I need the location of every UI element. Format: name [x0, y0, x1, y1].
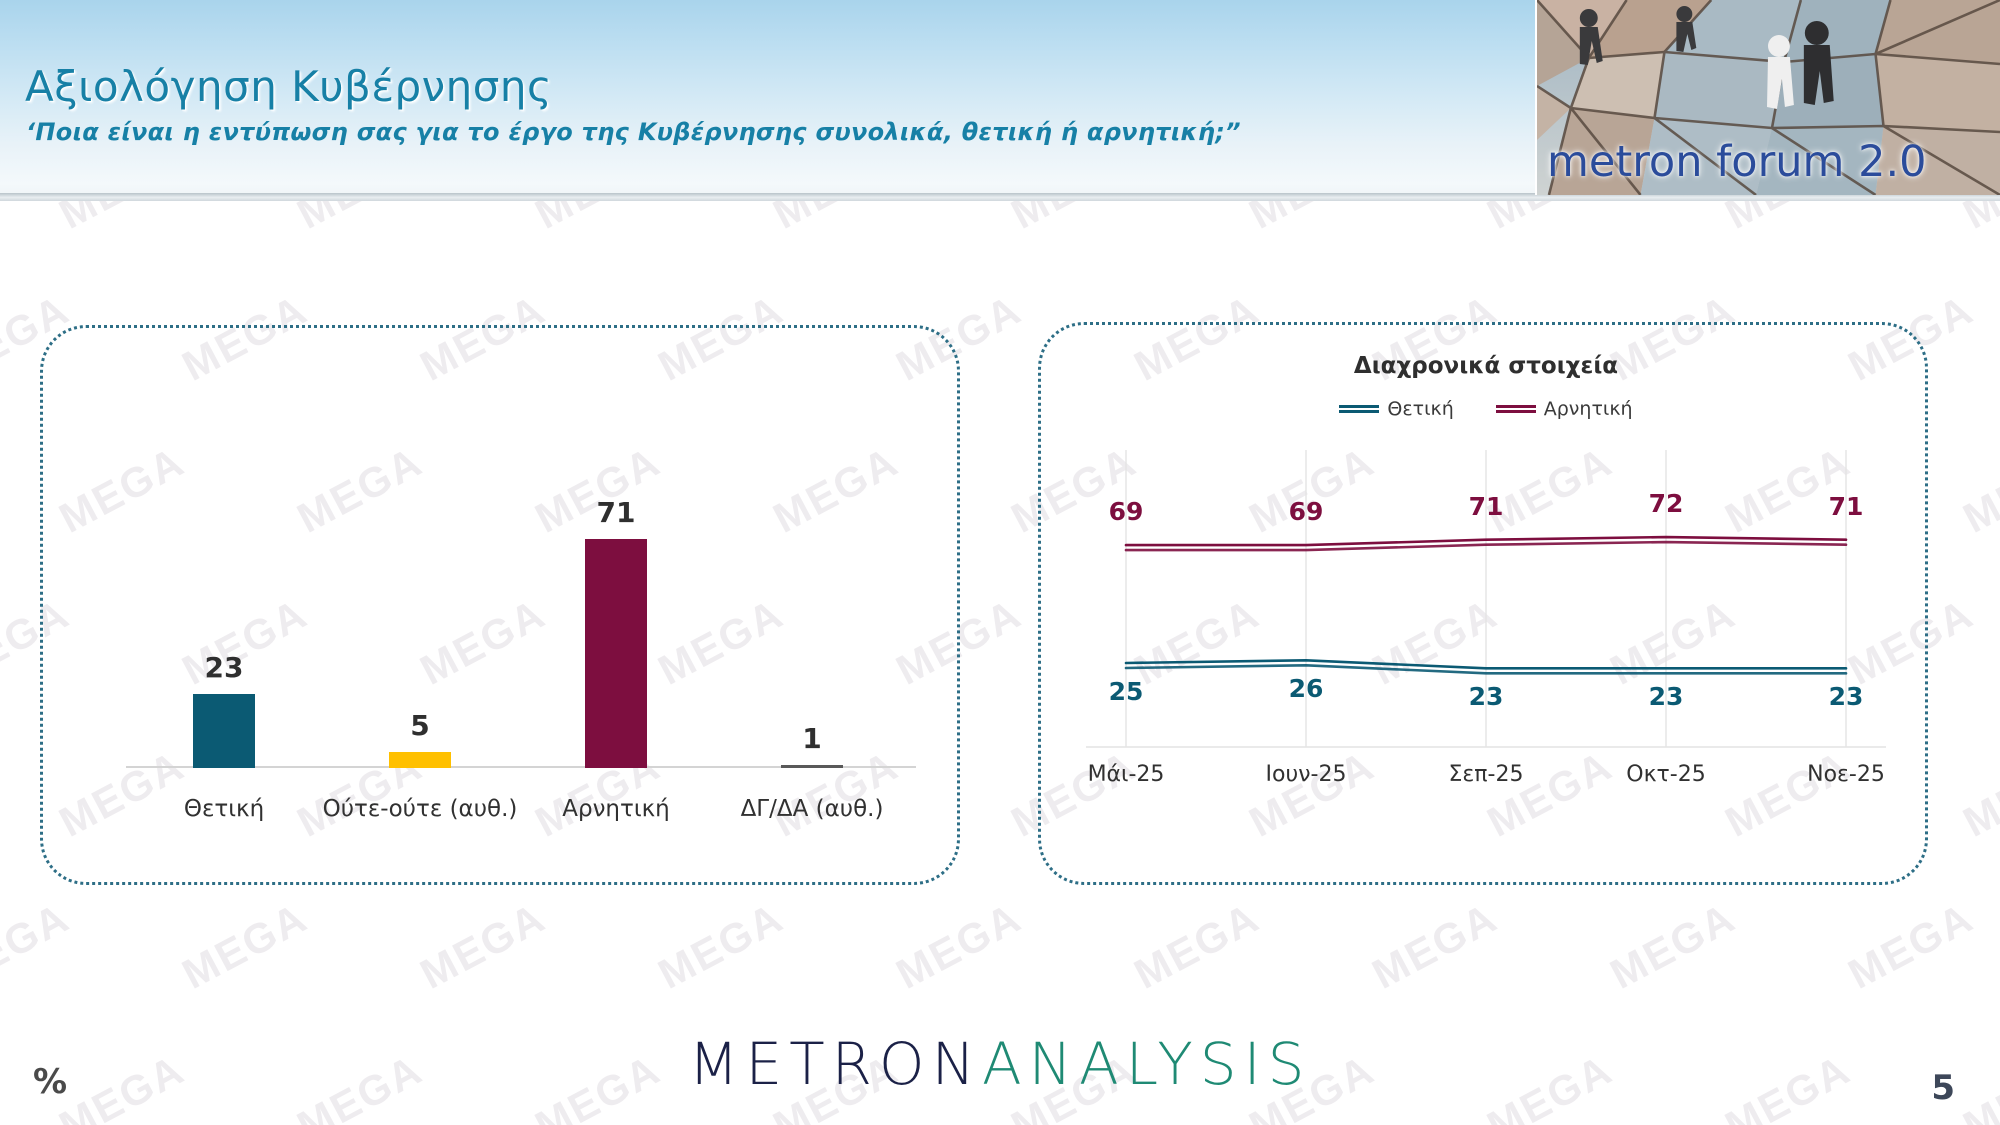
watermark-text: MEGA: [1127, 893, 1268, 998]
line-chart-legend: Θετική Αρνητική: [1041, 398, 1931, 420]
line-chart-panel: Διαχρονικά στοιχεία Θετική Αρνητική 2526…: [1038, 322, 1928, 885]
page-subtitle: ‘Ποια είναι η εντύπωση σας για το έργο τ…: [26, 118, 1241, 146]
line-point-label: 23: [1829, 682, 1864, 711]
legend-item-positive: Θετική: [1339, 398, 1453, 420]
bar-column: 23Θετική: [126, 438, 322, 768]
bar-rect: [585, 539, 647, 768]
bar-rect: [193, 694, 255, 768]
line-x-axis-label: Ιουν-25: [1266, 762, 1347, 787]
watermark-text: MEGA: [1603, 893, 1744, 998]
watermark-text: MEGA: [1365, 893, 1506, 998]
watermark-text: MEGA: [175, 893, 316, 998]
line-point-label: 69: [1109, 497, 1144, 526]
legend-line-swatch-positive: [1339, 405, 1379, 414]
page-number: 5: [1931, 1068, 1955, 1108]
bar-value-label: 5: [410, 709, 429, 742]
line-chart-plot-area: 25262323236969717271Μάι-25Ιουν-25Σεπ-25Ο…: [1086, 450, 1886, 765]
legend-line-swatch-negative: [1496, 405, 1536, 414]
bar-chart-plot-area: 23Θετική5Ούτε-ούτε (αυθ.)71Αρνητική1ΔΓ/Δ…: [88, 438, 918, 838]
slide-root: Αξιολόγηση Κυβέρνησης ‘Ποια είναι η εντύ…: [0, 0, 2000, 1125]
legend-label-negative: Αρνητική: [1544, 398, 1633, 420]
line-point-label: 72: [1649, 489, 1684, 518]
bar-chart-panel: 23Θετική5Ούτε-ούτε (αυθ.)71Αρνητική1ΔΓ/Δ…: [40, 325, 960, 885]
line-point-label: 25: [1109, 677, 1144, 706]
bar-rect: [389, 752, 451, 768]
line-x-axis-label: Μάι-25: [1088, 762, 1165, 787]
bar-category-label: Αρνητική: [562, 796, 670, 822]
line-point-label: 69: [1289, 497, 1324, 526]
page-title: Αξιολόγηση Κυβέρνησης: [25, 62, 552, 111]
legend-label-positive: Θετική: [1387, 398, 1453, 420]
bar-column: 71Αρνητική: [518, 438, 714, 768]
line-point-label: 71: [1829, 492, 1864, 521]
watermark-text: MEGA: [1956, 741, 2000, 846]
line-x-axis-label: Νοε-25: [1807, 762, 1885, 787]
line-x-axis-label: Οκτ-25: [1626, 762, 1705, 787]
bar-value-label: 1: [802, 722, 821, 755]
line-point-label: 23: [1469, 682, 1504, 711]
line-chart-title: Διαχρονικά στοιχεία: [1041, 353, 1931, 379]
bar-category-label: Ούτε-ούτε (αυθ.): [323, 796, 518, 822]
forum-logo-text: metron forum 2.0: [1547, 137, 2000, 187]
watermark-text: MEGA: [0, 893, 77, 998]
bar-value-label: 23: [205, 651, 244, 684]
legend-item-negative: Αρνητική: [1496, 398, 1633, 420]
bar-category-label: ΔΓ/ΔΑ (αυθ.): [741, 796, 884, 822]
bar-value-label: 71: [597, 496, 636, 529]
line-x-axis-label: Σεπ-25: [1449, 762, 1524, 787]
line-point-label: 23: [1649, 682, 1684, 711]
bar-rect: [781, 765, 843, 768]
line-point-label: 26: [1289, 674, 1324, 703]
bar-column: 5Ούτε-ούτε (αυθ.): [322, 438, 518, 768]
bar-column: 1ΔΓ/ΔΑ (αυθ.): [714, 438, 910, 768]
metron-analysis-logo: METRONANALYSIS: [0, 1030, 2000, 1098]
watermark-text: MEGA: [413, 893, 554, 998]
watermark-text: MEGA: [889, 893, 1030, 998]
watermark-text: MEGA: [651, 893, 792, 998]
brand-analysis: ANALYSIS: [982, 1030, 1312, 1098]
bar-category-label: Θετική: [184, 796, 264, 822]
watermark-text: MEGA: [1956, 437, 2000, 542]
brand-metron: METRON: [689, 1030, 982, 1098]
metron-forum-logo-panel: metron forum 2.0: [1535, 0, 2000, 195]
line-point-label: 71: [1469, 492, 1504, 521]
watermark-text: MEGA: [1841, 893, 1982, 998]
